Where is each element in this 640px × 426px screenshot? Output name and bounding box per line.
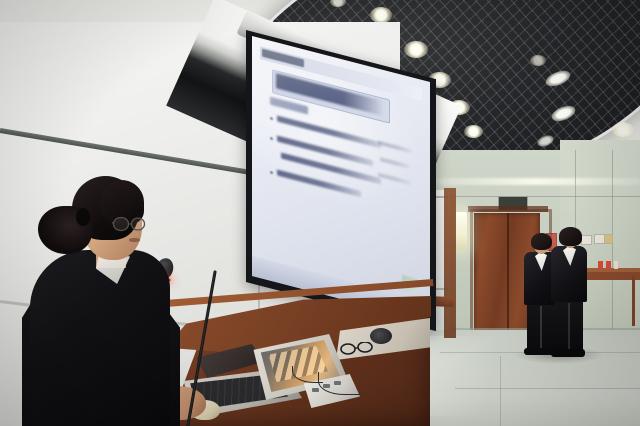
wall-plaque xyxy=(581,235,592,245)
recessed-light-icon xyxy=(612,122,634,137)
downlight-icon xyxy=(404,41,428,58)
cove-light xyxy=(432,178,640,185)
speaker-hair-tie xyxy=(76,208,90,226)
desk-microphone-head[interactable] xyxy=(370,328,392,344)
table-item xyxy=(598,261,603,269)
screen-sheen xyxy=(252,36,430,322)
floor-seam xyxy=(455,388,640,389)
photo-scene xyxy=(0,0,640,426)
eyeglasses-icon xyxy=(340,342,374,356)
table-item xyxy=(606,261,611,269)
wall-plaque xyxy=(604,234,613,244)
control-button[interactable] xyxy=(312,388,319,392)
projection-screen xyxy=(252,36,430,322)
floor-seam xyxy=(500,356,501,426)
downlight-icon xyxy=(464,125,483,138)
wall-seam xyxy=(430,196,640,197)
recessed-light-icon xyxy=(530,55,546,66)
attendee-right-hair xyxy=(559,227,582,246)
wall-sconce-light xyxy=(455,212,467,250)
speaker-jacket xyxy=(30,250,170,426)
attendee-left-leg-seam xyxy=(540,306,542,350)
table-item xyxy=(614,261,618,269)
speaker-mouth xyxy=(129,238,140,242)
speaker-eyeglasses-icon xyxy=(112,216,144,231)
attendee-left-hair xyxy=(531,233,552,250)
table-leg xyxy=(632,276,635,326)
downlight-icon xyxy=(370,7,392,23)
attendee-right-leg-seam xyxy=(568,303,570,351)
wall-wood-trim xyxy=(444,188,456,338)
attendee-right-shoes xyxy=(551,349,585,357)
